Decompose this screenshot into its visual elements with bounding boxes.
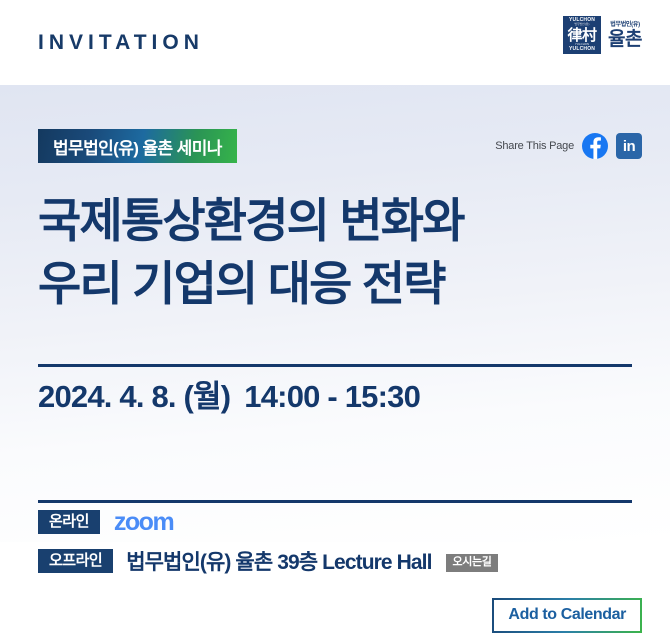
add-to-calendar-label: Add to Calendar [494,600,640,631]
online-attendance-row: 온라인 zoom [38,509,173,534]
headline-line-1: 국제통상환경의 변화와 [38,190,638,253]
directions-button[interactable]: 오시는길 [446,554,499,572]
page-header: INVITATION YULCHON 법무법인(유) 律村 YULCHON YU… [0,0,670,85]
seminar-category-badge: 법무법인(유) 율촌 세미나 [38,129,237,163]
invitation-body: 법무법인(유) 율촌 세미나 Share This Page in 국제통상환경… [0,85,670,542]
facebook-share-icon[interactable] [582,133,608,159]
zoom-platform-logo[interactable]: zoom [114,510,173,535]
online-tag: 온라인 [38,510,100,534]
yulchon-logo[interactable]: YULCHON 법무법인(유) 律村 YULCHON YULCHON 법무법인(… [563,16,642,54]
logo-mark-hanja-text: 律村 [568,28,597,43]
offline-attendance-row: 오프라인 법무법인(유) 율촌 39층 Lecture Hall 오시는길 [38,546,498,576]
yulchon-logo-wordmark: 법무법인(유) 율촌 [608,22,642,49]
add-to-calendar-button[interactable]: Add to Calendar [492,598,642,633]
page-title: INVITATION [38,32,204,53]
divider-above-details [38,364,632,367]
logo-mark-bottom-text: YULCHON [569,47,595,52]
logo-entity-type-label: 법무법인(유) [610,22,640,28]
linkedin-share-icon[interactable]: in [616,133,642,159]
badge-and-share-row: 법무법인(유) 율촌 세미나 Share This Page in [0,129,670,167]
share-label: Share This Page [495,140,574,152]
seminar-headline: 국제통상환경의 변화와 우리 기업의 대응 전략 [38,190,638,315]
event-time: 14:00 - 15:30 [244,379,420,414]
divider-below-details [38,500,632,503]
event-date: 2024. 4. 8. (월) [38,379,230,414]
venue-name: 법무법인(유) 율촌 39층 Lecture Hall [126,546,431,576]
share-this-page-group: Share This Page in [495,129,642,163]
event-datetime: 2024. 4. 8. (월)14:00 - 15:30 [38,378,420,415]
offline-tag: 오프라인 [38,549,113,573]
headline-line-2: 우리 기업의 대응 전략 [38,253,638,316]
logo-firm-name-label: 율촌 [608,30,642,49]
yulchon-logo-mark-icon: YULCHON 법무법인(유) 律村 YULCHON YULCHON [563,16,601,54]
